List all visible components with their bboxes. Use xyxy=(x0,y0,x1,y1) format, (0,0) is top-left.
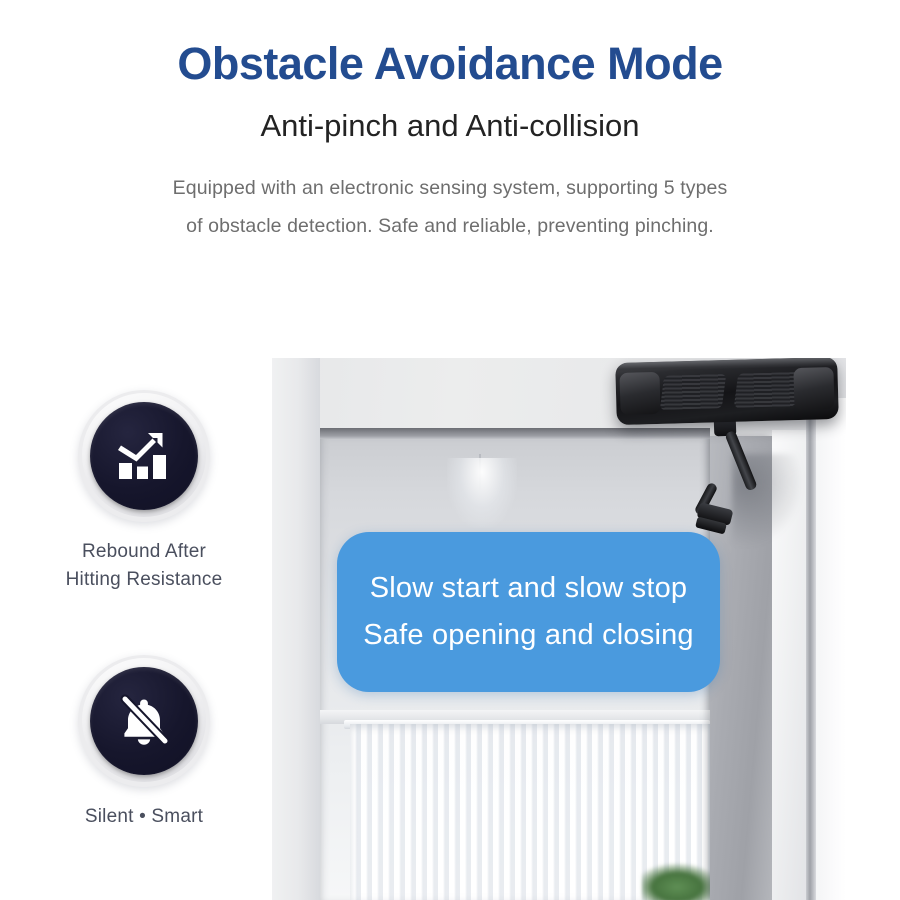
feature-item-rebound: Rebound After Hitting Resistance xyxy=(44,390,244,593)
opener-vent-grille xyxy=(660,374,726,410)
badge-inner-circle xyxy=(90,667,198,775)
opener-vent-grille xyxy=(734,372,800,408)
description-line-1: Equipped with an electronic sensing syst… xyxy=(100,169,800,207)
header: Obstacle Avoidance Mode Anti-pinch and A… xyxy=(0,0,900,245)
feature-label-silent: Silent • Smart xyxy=(44,803,244,831)
door-lintel xyxy=(320,428,710,439)
feature-item-silent: Silent • Smart xyxy=(44,655,244,831)
product-feature-page: Obstacle Avoidance Mode Anti-pinch and A… xyxy=(0,0,900,900)
feature-label-rebound: Rebound After Hitting Resistance xyxy=(44,538,244,593)
feature-label-line-1: Silent • Smart xyxy=(44,803,244,831)
page-description: Equipped with an electronic sensing syst… xyxy=(100,143,800,245)
description-line-2: of obstacle detection. Safe and reliable… xyxy=(100,207,800,245)
door-far-face xyxy=(816,398,846,900)
feature-label-line-1: Rebound After xyxy=(44,538,244,566)
bar-chart-growth-icon xyxy=(115,430,173,482)
opener-end-cap-right xyxy=(793,367,834,410)
bell-muted-icon xyxy=(116,693,172,749)
page-title: Obstacle Avoidance Mode xyxy=(0,0,900,89)
callout-line-2: Safe opening and closing xyxy=(363,612,694,659)
page-subtitle: Anti-pinch and Anti-collision xyxy=(0,89,900,143)
potted-plant xyxy=(642,863,720,900)
feature-badge-silent xyxy=(78,655,210,787)
callout-line-1: Slow start and slow stop xyxy=(370,565,688,612)
door-edge-shadow-line xyxy=(806,418,816,900)
ceiling-light-glow xyxy=(447,458,517,528)
feature-list: Rebound After Hitting Resistance xyxy=(44,390,244,831)
door-jamb-left xyxy=(272,358,320,900)
badge-inner-circle xyxy=(90,402,198,510)
callout-box: Slow start and slow stop Safe opening an… xyxy=(337,532,720,692)
feature-badge-rebound xyxy=(78,390,210,522)
feature-label-line-2: Hitting Resistance xyxy=(44,566,244,594)
opener-end-cap-left xyxy=(619,372,660,415)
automatic-door-opener-device xyxy=(615,358,839,425)
